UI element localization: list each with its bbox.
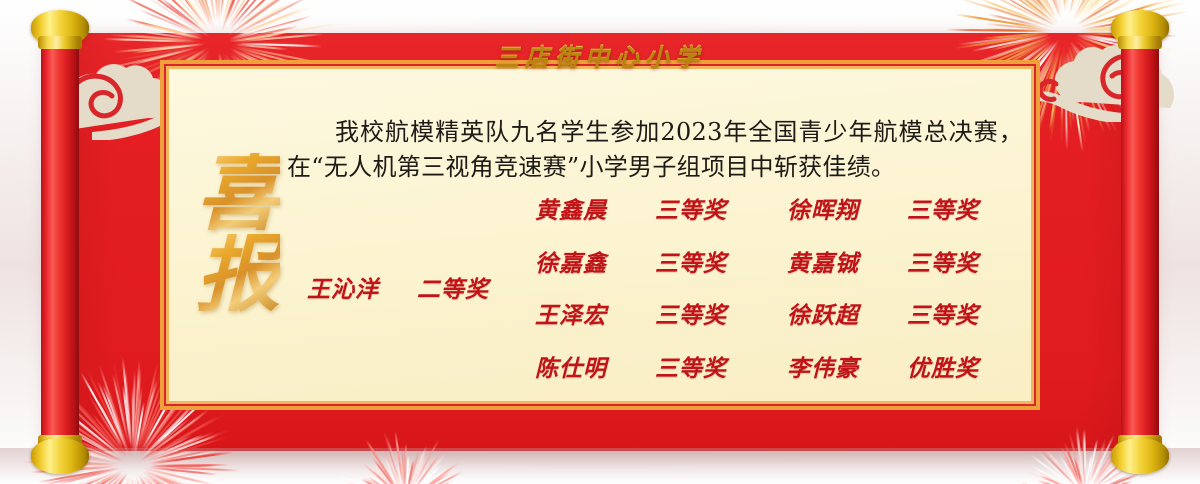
award-name: 徐跃超 [787, 296, 907, 330]
headline-char-1: 喜 [196, 153, 280, 234]
award-prize: 三等奖 [655, 349, 787, 383]
award-name: 黄鑫晨 [535, 191, 655, 225]
award-prize: 三等奖 [655, 244, 787, 278]
award-prize: 三等奖 [907, 296, 1031, 330]
award-name: 徐晖翔 [787, 191, 907, 225]
awards-rows: 黄鑫晨 三等奖 徐晖翔 三等奖 徐嘉鑫 三等奖 黄嘉铖 三等奖 王泽宏 [535, 187, 1031, 387]
award-prize: 三等奖 [907, 244, 1031, 278]
featured-award-name: 王沁洋 [307, 270, 417, 304]
headline-char-2: 报 [196, 234, 280, 315]
table-row: 徐嘉鑫 三等奖 黄嘉铖 三等奖 [535, 244, 1031, 278]
scroll-rod-right-bar [1121, 38, 1159, 446]
award-name: 徐嘉鑫 [535, 244, 655, 278]
firework-bottom-center-icon [330, 446, 480, 484]
awards-table: 王沁洋 二等奖 黄鑫晨 三等奖 徐晖翔 三等奖 徐嘉鑫 [287, 187, 1031, 387]
table-row: 王泽宏 三等奖 徐跃超 三等奖 [535, 296, 1031, 330]
table-row: 陈仕明 三等奖 李伟豪 优胜奖 [535, 349, 1031, 383]
scroll-rod-right [1110, 0, 1170, 484]
table-row: 王沁洋 二等奖 [307, 270, 489, 304]
award-prize: 三等奖 [907, 191, 1031, 225]
body-paragraph: 我校航模精英队九名学生参加2023年全国青少年航模总决赛，在“无人机第三视角竞速… [287, 115, 1023, 185]
featured-award-prize: 二等奖 [417, 270, 489, 304]
featured-award: 王沁洋 二等奖 [287, 187, 535, 387]
certificate-frame-inner: 喜 报 我校航模精英队九名学生参加2023年全国青少年航模总决赛，在“无人机第三… [164, 64, 1036, 406]
school-title: 三店街中心小学 [0, 33, 1200, 76]
award-prize: 优胜奖 [907, 349, 1031, 383]
scroll-rod-left [30, 0, 90, 484]
award-name: 黄嘉铖 [787, 244, 907, 278]
scroll-rod-right-collar-top [1118, 36, 1162, 49]
certificate-panel: 喜 报 我校航模精英队九名学生参加2023年全国青少年航模总决赛，在“无人机第三… [169, 69, 1031, 401]
award-prize: 三等奖 [655, 191, 787, 225]
poster-canvas: 三店街中心小学 喜 报 我校航模精英队九名学生参加2023年全国青少年航模总决赛… [0, 0, 1200, 484]
certificate-frame: 喜 报 我校航模精英队九名学生参加2023年全国青少年航模总决赛，在“无人机第三… [160, 60, 1040, 410]
scroll-rod-left-cap-bottom [31, 438, 89, 474]
award-name: 李伟豪 [787, 349, 907, 383]
award-name: 陈仕明 [535, 349, 655, 383]
headline-xibao: 喜 报 [183, 153, 293, 314]
scroll-rod-left-bar [41, 38, 79, 446]
surface-shadow [0, 448, 1200, 484]
award-prize: 三等奖 [655, 296, 787, 330]
school-title-text: 三店街中心小学 [495, 37, 705, 72]
award-name: 王泽宏 [535, 296, 655, 330]
scroll-rod-left-collar-top [38, 36, 82, 49]
table-row: 黄鑫晨 三等奖 徐晖翔 三等奖 [535, 191, 1031, 225]
scroll-rod-right-cap-bottom [1111, 438, 1169, 474]
